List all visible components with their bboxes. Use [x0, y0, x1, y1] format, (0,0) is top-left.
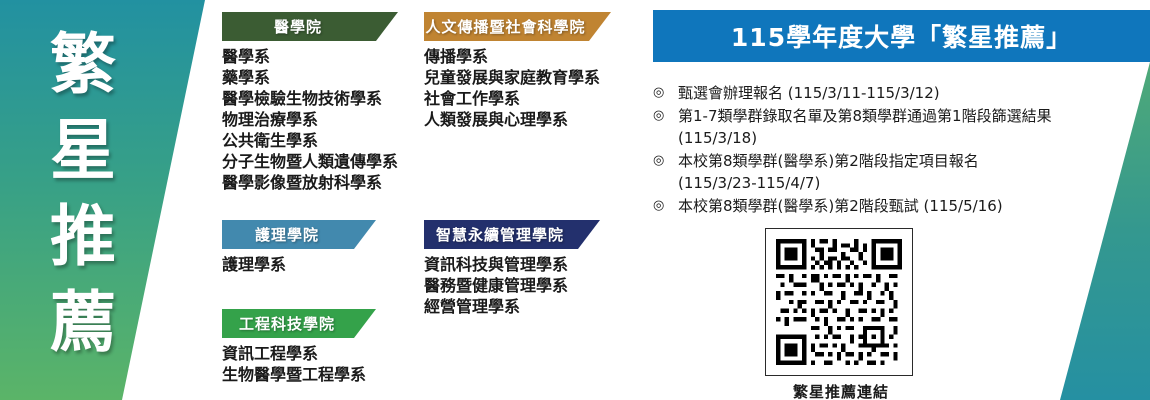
department-item: 護理學系 — [222, 254, 376, 275]
department-item: 公共衛生學系 — [222, 130, 398, 151]
college-block-engineering: 工程科技學院 資訊工程學系 生物醫學暨工程學系 — [222, 309, 376, 385]
schedule-item-date: (115/3/23-115/4/7) — [678, 172, 1123, 194]
qr-code-block[interactable]: 繁星推薦連結 — [765, 228, 917, 400]
department-item: 分子生物暨人類遺傳學系 — [222, 151, 398, 172]
schedule-item: ◎ 本校第8類學群(醫學系)第2階段指定項目報名 (115/3/23-115/4… — [653, 150, 1123, 194]
qr-code-caption: 繁星推薦連結 — [765, 381, 917, 400]
college-banner-engineering: 工程科技學院 — [222, 309, 376, 338]
schedule-item: ◎ 第1-7類學群錄取名單及第8類學群通過第1階段篩選結果 (115/3/18) — [653, 105, 1123, 149]
qr-code-image[interactable] — [765, 228, 913, 376]
info-panel-title-bar: 115學年度大學「繁星推薦」 — [653, 10, 1150, 62]
college-name-management: 智慧永續管理學院 — [436, 224, 564, 245]
vertical-title-char-4: 薦 — [44, 280, 122, 366]
schedule-item-date: (115/3/18) — [678, 127, 1123, 149]
department-list-humanities: 傳播學系 兒童發展與家庭教育學系 社會工作學系 人類發展與心理學系 — [424, 46, 611, 130]
vertical-title-char-3: 推 — [44, 194, 122, 280]
college-banner-management: 智慧永續管理學院 — [424, 220, 600, 249]
bullet-marker-icon: ◎ — [653, 150, 678, 172]
schedule-item-text: 甄選會辦理報名 (115/3/11-115/3/12) — [678, 84, 940, 102]
schedule-item-text: 本校第8類學群(醫學系)第2階段甄試 (115/5/16) — [678, 197, 1003, 215]
department-item: 醫務暨健康管理學系 — [424, 275, 600, 296]
college-banner-medicine: 醫學院 — [222, 12, 398, 41]
department-item: 資訊科技與管理學系 — [424, 254, 600, 275]
college-name-engineering: 工程科技學院 — [239, 313, 335, 334]
college-block-medicine: 醫學院 醫學系 藥學系 醫學檢驗生物技術學系 物理治療學系 公共衛生學系 分子生… — [222, 12, 398, 193]
department-list-nursing: 護理學系 — [222, 254, 376, 275]
department-list-management: 資訊科技與管理學系 醫務暨健康管理學系 經營管理學系 — [424, 254, 600, 317]
college-block-nursing: 護理學院 護理學系 — [222, 220, 376, 275]
department-item: 資訊工程學系 — [222, 343, 376, 364]
department-item: 物理治療學系 — [222, 109, 398, 130]
department-item: 經營管理學系 — [424, 296, 600, 317]
bullet-marker-icon: ◎ — [653, 105, 678, 127]
college-name-medicine: 醫學院 — [274, 16, 322, 37]
department-item: 傳播學系 — [424, 46, 611, 67]
college-name-humanities: 人文傳播暨社會科學院 — [425, 16, 585, 37]
department-item: 醫學影像暨放射科學系 — [222, 172, 398, 193]
department-item: 醫學系 — [222, 46, 398, 67]
department-item: 人類發展與心理學系 — [424, 109, 611, 130]
college-name-nursing: 護理學院 — [255, 224, 319, 245]
schedule-item-text: 本校第8類學群(醫學系)第2階段指定項目報名 — [678, 152, 979, 170]
department-item: 兒童發展與家庭教育學系 — [424, 67, 611, 88]
schedule-list: ◎ 甄選會辦理報名 (115/3/11-115/3/12) ◎ 第1-7類學群錄… — [653, 82, 1123, 218]
bullet-marker-icon: ◎ — [653, 195, 678, 217]
poster-root: 繁 星 推 薦 醫學院 醫學系 藥學系 醫學檢驗生物技術學系 物理治療學系 公共… — [0, 0, 1150, 400]
schedule-item-text: 第1-7類學群錄取名單及第8類學群通過第1階段篩選結果 — [678, 107, 1052, 125]
department-item: 社會工作學系 — [424, 88, 611, 109]
schedule-item: ◎ 本校第8類學群(醫學系)第2階段甄試 (115/5/16) — [653, 195, 1123, 217]
department-item: 藥學系 — [222, 67, 398, 88]
college-block-humanities: 人文傳播暨社會科學院 傳播學系 兒童發展與家庭教育學系 社會工作學系 人類發展與… — [424, 12, 611, 130]
schedule-item: ◎ 甄選會辦理報名 (115/3/11-115/3/12) — [653, 82, 1123, 104]
college-block-management: 智慧永續管理學院 資訊科技與管理學系 醫務暨健康管理學系 經營管理學系 — [424, 220, 600, 317]
department-item: 生物醫學暨工程學系 — [222, 364, 376, 385]
qr-code-svg — [776, 239, 902, 365]
poster-vertical-title: 繁 星 推 薦 — [44, 22, 122, 366]
department-list-engineering: 資訊工程學系 生物醫學暨工程學系 — [222, 343, 376, 385]
info-panel-title: 115學年度大學「繁星推薦」 — [731, 18, 1072, 54]
bullet-marker-icon: ◎ — [653, 82, 678, 104]
college-banner-humanities: 人文傳播暨社會科學院 — [424, 12, 611, 41]
vertical-title-char-2: 星 — [44, 108, 122, 194]
department-list-medicine: 醫學系 藥學系 醫學檢驗生物技術學系 物理治療學系 公共衛生學系 分子生物暨人類… — [222, 46, 398, 193]
college-banner-nursing: 護理學院 — [222, 220, 376, 249]
department-item: 醫學檢驗生物技術學系 — [222, 88, 398, 109]
vertical-title-char-1: 繁 — [44, 22, 122, 108]
